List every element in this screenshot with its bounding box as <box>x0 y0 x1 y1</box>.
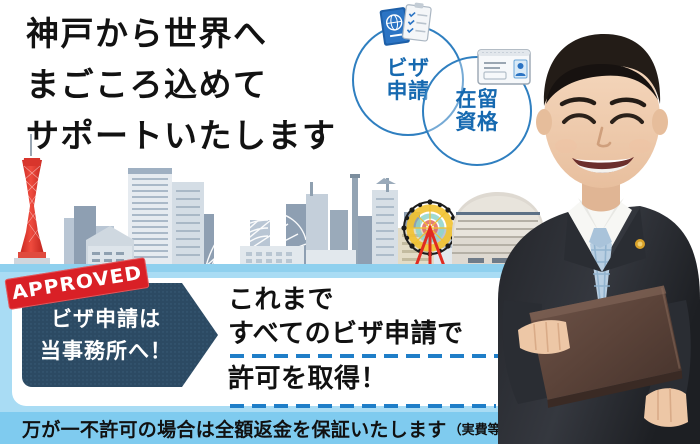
guarantee-main-text: 万が一不許可の場合は全額返金を保証いたします <box>22 415 447 442</box>
kobe-port-tower-shape <box>14 134 50 266</box>
headline-line-1: 神戸から世界へ <box>26 8 406 59</box>
circle-visa-line-1: ビザ <box>387 57 430 80</box>
passport-checklist-icon <box>374 2 436 52</box>
visa-service-banner: 神戸から世界へ まごころ込めて サポートいたします ビザ 申請 在留 資格 <box>0 0 700 444</box>
businessman-photo <box>490 0 700 444</box>
dashed-underline-bottom <box>230 404 496 408</box>
guarantee-bar: 万が一不許可の場合は全額返金を保証いたします （実費等は除きます） <box>0 412 560 444</box>
headline-line-2: まごころ込めて <box>26 59 406 110</box>
right-hand <box>644 388 688 427</box>
